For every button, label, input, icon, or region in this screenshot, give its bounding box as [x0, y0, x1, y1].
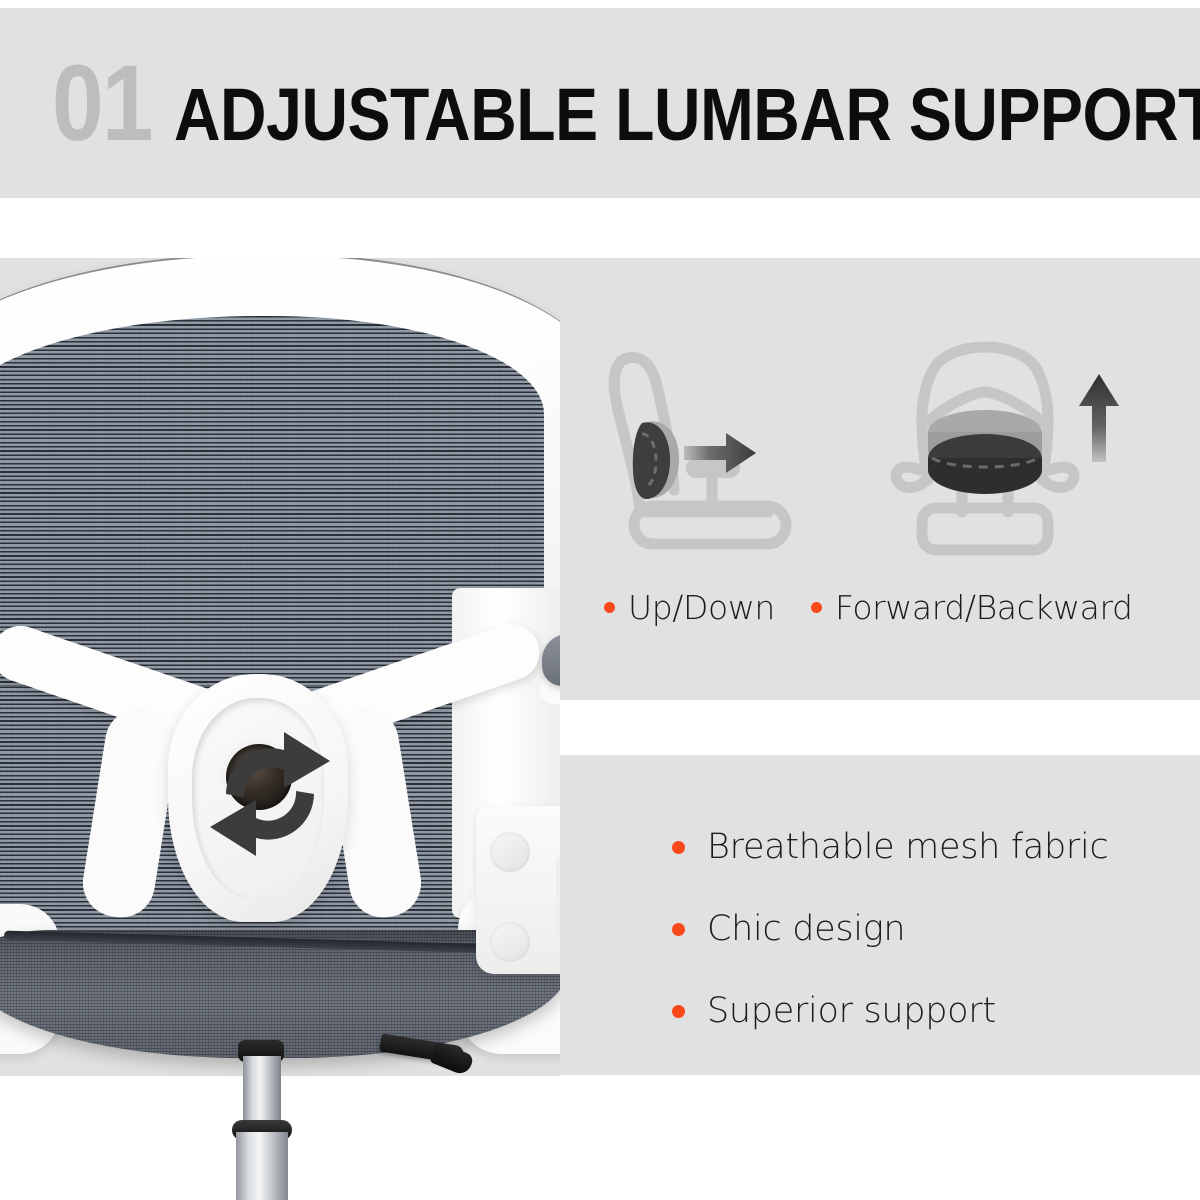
adjustment-captions: Up/Down Forward/Backward — [600, 586, 1200, 628]
infographic-page: 01 ADJUSTABLE LUMBAR SUPPORT — [0, 0, 1200, 1200]
up-arrow-icon — [1079, 374, 1119, 462]
feature-label: Chic design — [707, 909, 905, 949]
list-item: Superior support — [672, 970, 1192, 1052]
feature-label: Breathable mesh fabric — [707, 827, 1108, 867]
chair-front-view-lumbar-icon — [880, 330, 1180, 580]
bracket-bolt-upper — [490, 832, 530, 872]
photo-clip — [0, 258, 560, 1200]
lumbar-support-yoke — [20, 646, 540, 916]
caption-label: Forward/Backward — [835, 588, 1133, 627]
feature-label: Superior support — [707, 991, 996, 1031]
chair-front-view-svg — [880, 330, 1180, 580]
yoke-leg-left — [78, 704, 182, 923]
step-number: 01 — [52, 49, 152, 157]
armrest-lower-stem — [556, 854, 560, 974]
caption-up-down: Up/Down — [604, 588, 775, 627]
header-inner: 01 ADJUSTABLE LUMBAR SUPPORT — [0, 49, 1148, 157]
feature-list: Breathable mesh fabric Chic design Super… — [672, 806, 1192, 1052]
caption-forward-backward: Forward/Backward — [811, 588, 1133, 627]
gas-lift-cylinder-upper — [243, 1056, 281, 1128]
bracket-bolt-lower — [490, 922, 530, 962]
header-banner: 01 ADJUSTABLE LUMBAR SUPPORT — [0, 8, 1200, 198]
list-item: Chic design — [672, 888, 1192, 970]
chair-side-view-svg — [590, 330, 890, 580]
bullet-dot-icon — [672, 1005, 685, 1018]
bullet-dot-icon — [604, 602, 615, 613]
bullet-dot-icon — [672, 923, 685, 936]
bullet-dot-icon — [672, 841, 685, 854]
rotation-arrows-icon — [180, 698, 360, 888]
page-title: ADJUSTABLE LUMBAR SUPPORT — [174, 78, 1200, 152]
adjustment-icon-row — [580, 330, 1200, 580]
armrest-bracket — [476, 806, 560, 974]
bullet-dot-icon — [811, 602, 822, 613]
height-adjustment-lever-tip[interactable] — [429, 1041, 474, 1076]
office-chair-photo — [0, 258, 560, 1200]
gas-lift-cylinder-lower — [236, 1132, 288, 1200]
list-item: Breathable mesh fabric — [672, 806, 1192, 888]
caption-label: Up/Down — [628, 588, 775, 627]
chair-side-view-lumbar-icon — [590, 330, 890, 580]
